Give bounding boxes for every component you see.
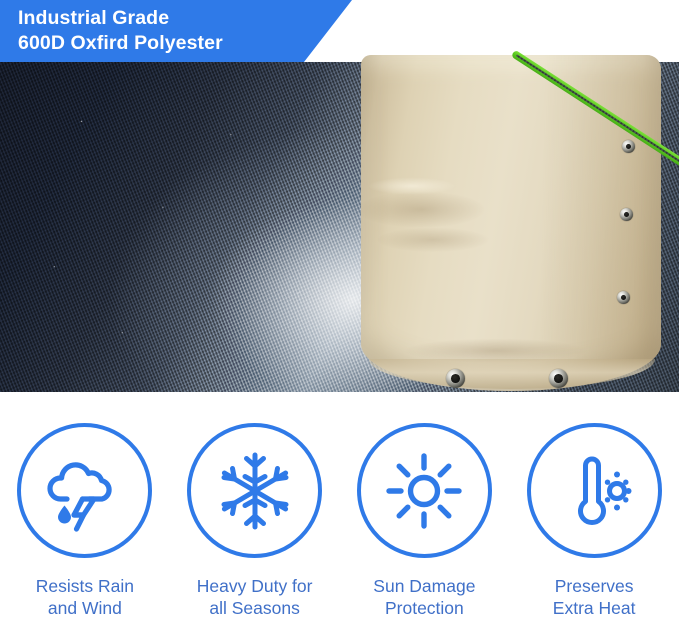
feature-label: Sun Damage Protection — [373, 575, 475, 619]
feature-heavy-duty-all-seasons: Heavy Duty for all Seasons — [170, 406, 340, 626]
feature-label: Heavy Duty for all Seasons — [197, 575, 313, 619]
banner-line-2: 600D Oxfird Polyester — [18, 31, 352, 56]
feature-icon-circle — [187, 423, 322, 558]
tank-cover-image — [361, 55, 661, 391]
feature-icon-circle — [17, 423, 152, 558]
cover-fold-shading — [361, 55, 661, 391]
feature-label: Preserves Extra Heat — [553, 575, 636, 619]
thermometer-sun-icon — [552, 449, 636, 533]
feature-resists-rain-and-wind: Resists Rain and Wind — [0, 406, 170, 626]
grommet-bottom-1 — [446, 369, 465, 388]
grommet-side-2 — [620, 208, 633, 221]
feature-sun-damage-protection: Sun Damage Protection — [340, 406, 510, 626]
sun-icon — [382, 449, 466, 533]
banner-line-1: Industrial Grade — [18, 6, 352, 31]
banner: Industrial Grade 600D Oxfird Polyester — [0, 0, 352, 62]
feature-list: Resists Rain and Wind Heav — [0, 406, 679, 626]
snowflake-icon — [213, 449, 297, 533]
grommet-bottom-2 — [549, 369, 568, 388]
cloud-rain-lightning-icon — [43, 449, 127, 533]
grommet-side-3 — [617, 291, 630, 304]
grommet-side-1 — [622, 140, 635, 153]
product-photo: Industrial Grade 600D Oxfird Polyester — [0, 0, 679, 392]
cover-bottom-hem — [369, 359, 655, 389]
feature-icon-circle — [357, 423, 492, 558]
feature-preserves-extra-heat: Preserves Extra Heat — [509, 406, 679, 626]
feature-icon-circle — [527, 423, 662, 558]
feature-label: Resists Rain and Wind — [36, 575, 134, 619]
